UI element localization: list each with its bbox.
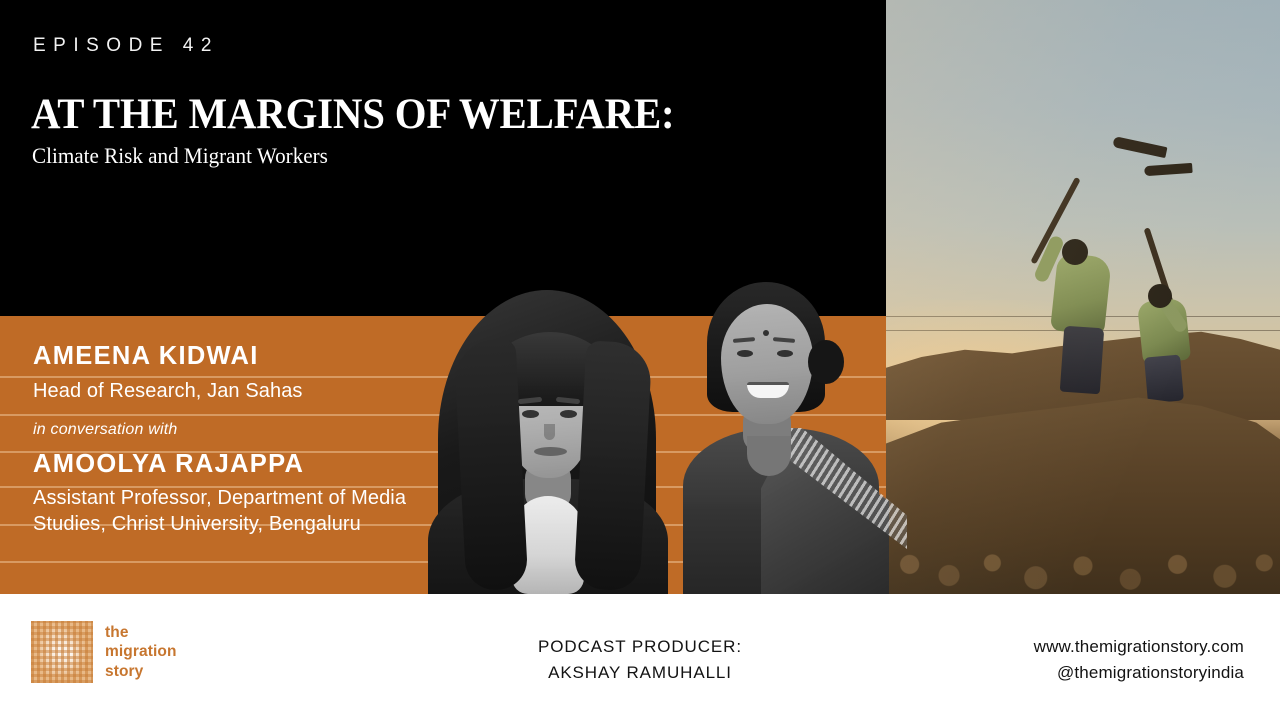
in-conversation-with-label: in conversation with <box>33 422 178 438</box>
workers-swinging-pickaxes-photo <box>886 0 1280 594</box>
contact-info: www.themigrationstory.com @themigrations… <box>1034 634 1244 687</box>
left-column: EPISODE 42 AT THE MARGINS OF WELFARE: Cl… <box>0 0 886 594</box>
guest-role: Head of Research, Jan Sahas <box>33 379 303 405</box>
divider-rule <box>0 376 886 378</box>
speakers-band: AMEENA KIDWAI Head of Research, Jan Saha… <box>0 316 886 594</box>
hero-section: EPISODE 42 AT THE MARGINS OF WELFARE: Cl… <box>0 0 886 316</box>
guest-name: AMEENA KIDWAI <box>33 344 259 370</box>
divider-rule <box>0 561 886 563</box>
host-name: AMOOLYA RAJAPPA <box>33 452 304 478</box>
footer: the migration story PODCAST PRODUCER: AK… <box>0 594 1280 720</box>
host-role: Assistant Professor, Department of Media… <box>33 486 413 537</box>
divider-rule <box>0 414 886 416</box>
page-title: AT THE MARGINS OF WELFARE: <box>31 92 674 137</box>
social-handle[interactable]: @themigrationstoryindia <box>1034 660 1244 686</box>
episode-subtitle: Climate Risk and Migrant Workers <box>32 143 328 169</box>
website-url[interactable]: www.themigrationstory.com <box>1034 634 1244 660</box>
episode-label: EPISODE 42 <box>33 36 219 55</box>
episode-card: EPISODE 42 AT THE MARGINS OF WELFARE: Cl… <box>0 0 1280 720</box>
